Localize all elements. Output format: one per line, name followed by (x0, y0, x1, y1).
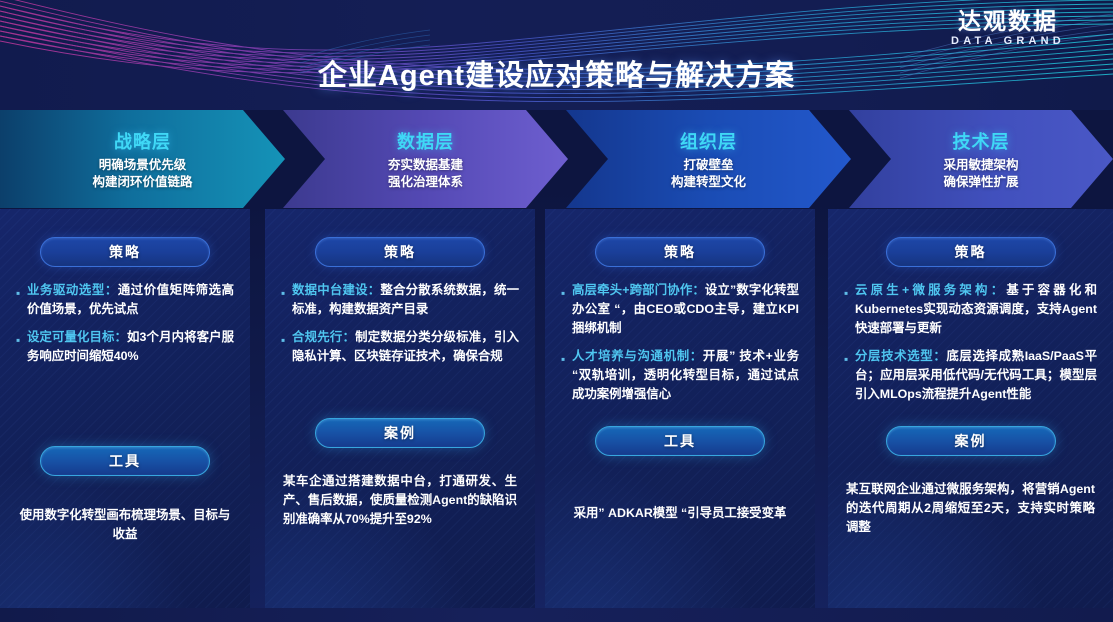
column-body-2: 策略 ▪ 数据中台建设：整合分散系统数据，统一标准，构建数据资产目录 ▪ 合规先… (265, 237, 535, 529)
strategy-pill-1[interactable]: 策略 (40, 237, 210, 267)
bottom-pill-2[interactable]: 案例 (315, 418, 485, 448)
list-item: ▪ 高层牵头+跨部门协作：设立”数字化转型办公室 “，由CEO或CDO主导，建立… (561, 281, 799, 338)
bullet-list-4: ▪ 云原生+微服务架构：基于容器化和Kubernetes实现动态资源调度，支持A… (842, 281, 1099, 404)
chevron-subtitle-4: 采用敏捷架构 确保弹性扩展 (943, 157, 1018, 191)
list-item: ▪ 业务驱动选型：通过价值矩阵筛选高价值场景，优先试点 (16, 281, 234, 319)
bullet-dot-icon: ▪ (16, 335, 27, 345)
bullet-text: 合规先行：制定数据分类分级标准，引入隐私计算、区块链存证技术，确保合规 (292, 328, 519, 366)
logo-english-name: DATA GRAND (923, 34, 1093, 49)
slide-header: 达观数据 DATA GRAND 企业Agent建设应对策略与解决方案 (0, 0, 1113, 110)
list-item: ▪ 合规先行：制定数据分类分级标准，引入隐私计算、区块链存证技术，确保合规 (281, 328, 519, 366)
chevron-title-1: 战略层 (114, 128, 171, 154)
bullet-dot-icon: ▪ (844, 288, 855, 298)
chevron-sub-line-2b: 强化治理体系 (388, 174, 463, 191)
strategy-pill-4[interactable]: 策略 (886, 237, 1056, 267)
bullet-list-3: ▪ 高层牵头+跨部门协作：设立”数字化转型办公室 “，由CEO或CDO主导，建立… (559, 281, 801, 404)
logo-chinese-name: 达观数据 (923, 8, 1093, 34)
bottom-pill-1[interactable]: 工具 (40, 446, 210, 476)
slide-root: 达观数据 DATA GRAND 企业Agent建设应对策略与解决方案 战略层 明 (0, 0, 1113, 622)
bullet-dot-icon: ▪ (561, 354, 572, 364)
bullet-highlight: 设定可量化目标： (27, 330, 127, 344)
column-technology-layer: 策略 ▪ 云原生+微服务架构：基于容器化和Kubernetes实现动态资源调度，… (828, 209, 1113, 608)
chevron-subtitle-3: 打破壁垒 构建转型文化 (671, 157, 746, 191)
chevron-organization-layer[interactable]: 组织层 打破壁垒 构建转型文化 (566, 110, 851, 208)
list-item: ▪ 数据中台建设：整合分散系统数据，统一标准，构建数据资产目录 (281, 281, 519, 319)
bottom-pill-4[interactable]: 案例 (886, 426, 1056, 456)
bullet-highlight: 人才培养与沟通机制： (572, 349, 703, 363)
bullet-dot-icon: ▪ (281, 335, 292, 345)
chevron-title-4: 技术层 (953, 128, 1010, 154)
footer-strip (0, 608, 1113, 622)
bullet-highlight: 高层牵头+跨部门协作： (572, 283, 705, 297)
chevron-title-2: 数据层 (397, 128, 454, 154)
bullet-text: 业务驱动选型：通过价值矩阵筛选高价值场景，优先试点 (27, 281, 234, 319)
column-organization-layer: 策略 ▪ 高层牵头+跨部门协作：设立”数字化转型办公室 “，由CEO或CDO主导… (545, 209, 815, 608)
column-strategy-layer: 策略 ▪ 业务驱动选型：通过价值矩阵筛选高价值场景，优先试点 ▪ 设定可量化目标… (0, 209, 250, 608)
page-title: 企业Agent建设应对策略与解决方案 (0, 52, 1113, 94)
chevron-sub-line-4a: 采用敏捷架构 (943, 157, 1018, 174)
chevron-technology-layer[interactable]: 技术层 采用敏捷架构 确保弹性扩展 (849, 110, 1113, 208)
chevron-subtitle-1: 明确场景优先级 构建闭环价值链路 (92, 157, 192, 191)
bullet-dot-icon: ▪ (281, 288, 292, 298)
strategy-pill-3[interactable]: 策略 (595, 237, 765, 267)
chevron-sub-line-1b: 构建闭环价值链路 (92, 174, 192, 191)
chevron-sub-line-4b: 确保弹性扩展 (943, 174, 1018, 191)
column-body-1: 策略 ▪ 业务驱动选型：通过价值矩阵筛选高价值场景，优先试点 ▪ 设定可量化目标… (0, 237, 250, 544)
bullet-dot-icon: ▪ (844, 354, 855, 364)
chevron-strategy-layer[interactable]: 战略层 明确场景优先级 构建闭环价值链路 (0, 110, 285, 208)
bullet-list-2: ▪ 数据中台建设：整合分散系统数据，统一标准，构建数据资产目录 ▪ 合规先行：制… (279, 281, 521, 366)
bottom-note-2: 某车企通过搭建数据中台，打通研发、生产、售后数据，使质量检测Agent的缺陷识别… (279, 472, 521, 529)
bottom-pill-3[interactable]: 工具 (595, 426, 765, 456)
bullet-text: 高层牵头+跨部门协作：设立”数字化转型办公室 “，由CEO或CDO主导，建立KP… (572, 281, 799, 338)
strategy-pill-2[interactable]: 策略 (315, 237, 485, 267)
bullet-dot-icon: ▪ (16, 288, 27, 298)
chevron-data-layer[interactable]: 数据层 夯实数据基建 强化治理体系 (283, 110, 568, 208)
bullet-text: 人才培养与沟通机制：开展” 技术+业务 “双轨培训，透明化转型目标，通过试点成功… (572, 347, 799, 404)
column-data-layer: 策略 ▪ 数据中台建设：整合分散系统数据，统一标准，构建数据资产目录 ▪ 合规先… (265, 209, 535, 608)
chevron-sub-line-3b: 构建转型文化 (671, 174, 746, 191)
bullet-text: 设定可量化目标：如3个月内将客户服务响应时间缩短40% (27, 328, 234, 366)
brand-logo: 达观数据 DATA GRAND (923, 8, 1093, 54)
bullet-highlight: 数据中台建设： (292, 283, 380, 297)
bullet-text: 云原生+微服务架构：基于容器化和Kubernetes实现动态资源调度，支持Age… (855, 281, 1097, 338)
bottom-note-4: 某互联网企业通过微服务架构，将营销Agent的迭代周期从2周缩短至2天，支持实时… (842, 480, 1099, 537)
chevron-band: 战略层 明确场景优先级 构建闭环价值链路 数据层 夯实数据基建 (0, 110, 1113, 208)
chevron-sub-line-1a: 明确场景优先级 (92, 157, 192, 174)
list-item: ▪ 设定可量化目标：如3个月内将客户服务响应时间缩短40% (16, 328, 234, 366)
content-columns: 策略 ▪ 业务驱动选型：通过价值矩阵筛选高价值场景，优先试点 ▪ 设定可量化目标… (0, 209, 1113, 608)
chevron-sub-line-3a: 打破壁垒 (671, 157, 746, 174)
list-item: ▪ 云原生+微服务架构：基于容器化和Kubernetes实现动态资源调度，支持A… (844, 281, 1097, 338)
column-body-3: 策略 ▪ 高层牵头+跨部门协作：设立”数字化转型办公室 “，由CEO或CDO主导… (545, 237, 815, 523)
bullet-dot-icon: ▪ (561, 288, 572, 298)
bullet-highlight: 云原生+微服务架构： (855, 283, 1006, 297)
bullet-text: 数据中台建设：整合分散系统数据，统一标准，构建数据资产目录 (292, 281, 519, 319)
list-item: ▪ 分层技术选型：底层选择成熟IaaS/PaaS平台；应用层采用低代码/无代码工… (844, 347, 1097, 404)
chevron-subtitle-2: 夯实数据基建 强化治理体系 (388, 157, 463, 191)
bullet-highlight: 合规先行： (292, 330, 355, 344)
bottom-note-1: 使用数字化转型画布梳理场景、目标与收益 (14, 506, 236, 544)
bullet-highlight: 分层技术选型： (855, 349, 946, 363)
bullet-list-1: ▪ 业务驱动选型：通过价值矩阵筛选高价值场景，优先试点 ▪ 设定可量化目标：如3… (14, 281, 236, 366)
bullet-text: 分层技术选型：底层选择成熟IaaS/PaaS平台；应用层采用低代码/无代码工具；… (855, 347, 1097, 404)
list-item: ▪ 人才培养与沟通机制：开展” 技术+业务 “双轨培训，透明化转型目标，通过试点… (561, 347, 799, 404)
bullet-highlight: 业务驱动选型： (27, 283, 118, 297)
chevron-sub-line-2a: 夯实数据基建 (388, 157, 463, 174)
bottom-note-3: 采用” ADKAR模型 “引导员工接受变革 (559, 504, 801, 523)
chevron-title-3: 组织层 (680, 128, 737, 154)
column-body-4: 策略 ▪ 云原生+微服务架构：基于容器化和Kubernetes实现动态资源调度，… (828, 237, 1113, 537)
